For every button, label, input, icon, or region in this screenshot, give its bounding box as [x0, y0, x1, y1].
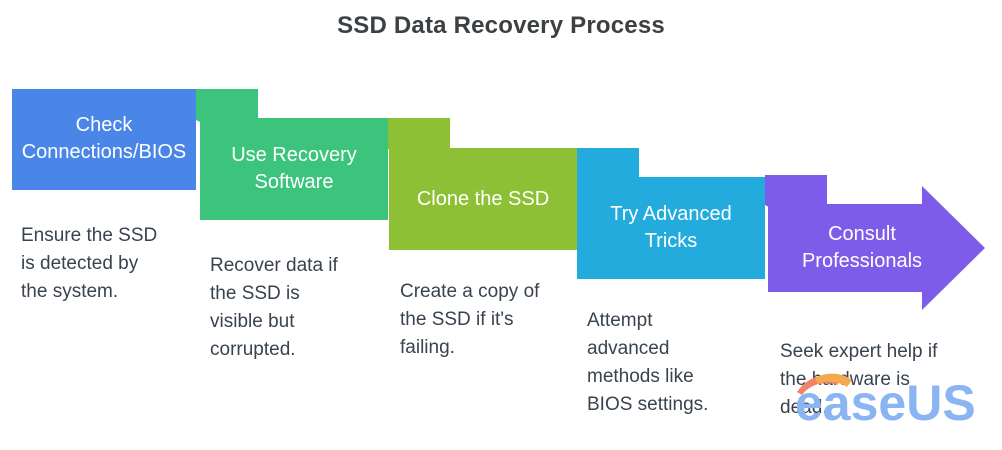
step-label-1: Check Connections/BIOS — [6, 107, 202, 171]
step-label-2: Use Recovery Software — [200, 137, 388, 201]
logo-wordmark: easeUS — [795, 375, 976, 424]
step-label-3: Clone the SSD — [389, 167, 577, 231]
step-label-5: Consult Professionals — [768, 216, 956, 280]
step-label-4: Try Advanced Tricks — [577, 196, 765, 260]
diagram-canvas: SSD Data Recovery Process — [0, 0, 1002, 450]
step-caption-1: Ensure the SSD is detected by the system… — [21, 222, 211, 306]
easeus-logo: easeUS — [795, 372, 995, 424]
step-caption-2: Recover data if the SSD is visible but c… — [210, 252, 400, 364]
step-caption-3: Create a copy of the SSD if it's failing… — [400, 278, 590, 362]
step-caption-4: Attempt advanced methods like BIOS setti… — [587, 307, 777, 419]
